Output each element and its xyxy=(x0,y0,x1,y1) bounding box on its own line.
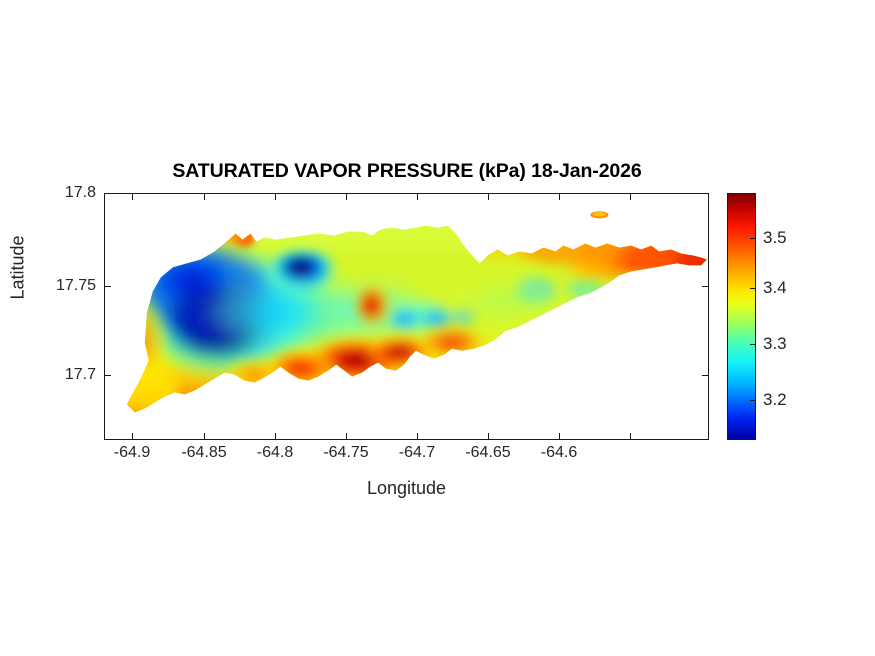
colorbar-label: 3.4 xyxy=(763,278,787,298)
colorbar-tick xyxy=(750,238,756,239)
colorbar-label: 3.2 xyxy=(763,390,787,410)
xtick-mark-top xyxy=(417,193,418,200)
xtick-mark-top xyxy=(488,193,489,200)
map-axes[interactable] xyxy=(104,193,709,440)
ytick-label: 17.7 xyxy=(65,366,96,384)
figure-canvas: SATURATED VAPOR PRESSURE (kPa) 18-Jan-20… xyxy=(0,0,875,656)
xtick-label: -64.75 xyxy=(323,444,368,462)
ytick-label: 17.75 xyxy=(56,277,96,295)
ytick-mark xyxy=(104,286,111,287)
colorbar-tick xyxy=(750,400,756,401)
xtick-mark xyxy=(275,433,276,440)
xtick-mark-top xyxy=(132,193,133,200)
xtick-mark-top xyxy=(204,193,205,200)
chart-title: SATURATED VAPOR PRESSURE (kPa) 18-Jan-20… xyxy=(104,160,710,183)
ytick-mark-right xyxy=(702,375,709,376)
ytick-mark xyxy=(104,193,111,194)
xtick-mark xyxy=(417,433,418,440)
xtick-mark xyxy=(488,433,489,440)
xtick-mark-top xyxy=(275,193,276,200)
ytick-label: 17.8 xyxy=(65,184,96,202)
x-axis-label: Longitude xyxy=(104,478,709,499)
xtick-mark xyxy=(346,433,347,440)
colorbar-label: 3.3 xyxy=(763,334,787,354)
ytick-mark-right xyxy=(702,193,709,194)
ytick-mark xyxy=(104,375,111,376)
colorbar-tick xyxy=(750,344,756,345)
xtick-mark xyxy=(132,433,133,440)
xtick-label: -64.65 xyxy=(465,444,510,462)
xtick-label: -64.7 xyxy=(399,444,435,462)
xtick-label: -64.9 xyxy=(114,444,150,462)
xtick-mark-top xyxy=(630,193,631,200)
xtick-mark xyxy=(630,433,631,440)
xtick-mark xyxy=(559,433,560,440)
colorbar[interactable] xyxy=(727,193,756,440)
xtick-mark-top xyxy=(346,193,347,200)
xtick-mark-top xyxy=(559,193,560,200)
xtick-label: -64.6 xyxy=(541,444,577,462)
y-axis-label: Latitude xyxy=(8,208,29,328)
xtick-label: -64.8 xyxy=(257,444,293,462)
colorbar-tick xyxy=(750,288,756,289)
colorbar-label: 3.5 xyxy=(763,228,787,248)
ytick-mark-right xyxy=(702,286,709,287)
xtick-mark xyxy=(204,433,205,440)
vapor-pressure-heatmap xyxy=(105,194,708,439)
buck-island-islet xyxy=(590,211,608,218)
xtick-label: -64.85 xyxy=(181,444,226,462)
